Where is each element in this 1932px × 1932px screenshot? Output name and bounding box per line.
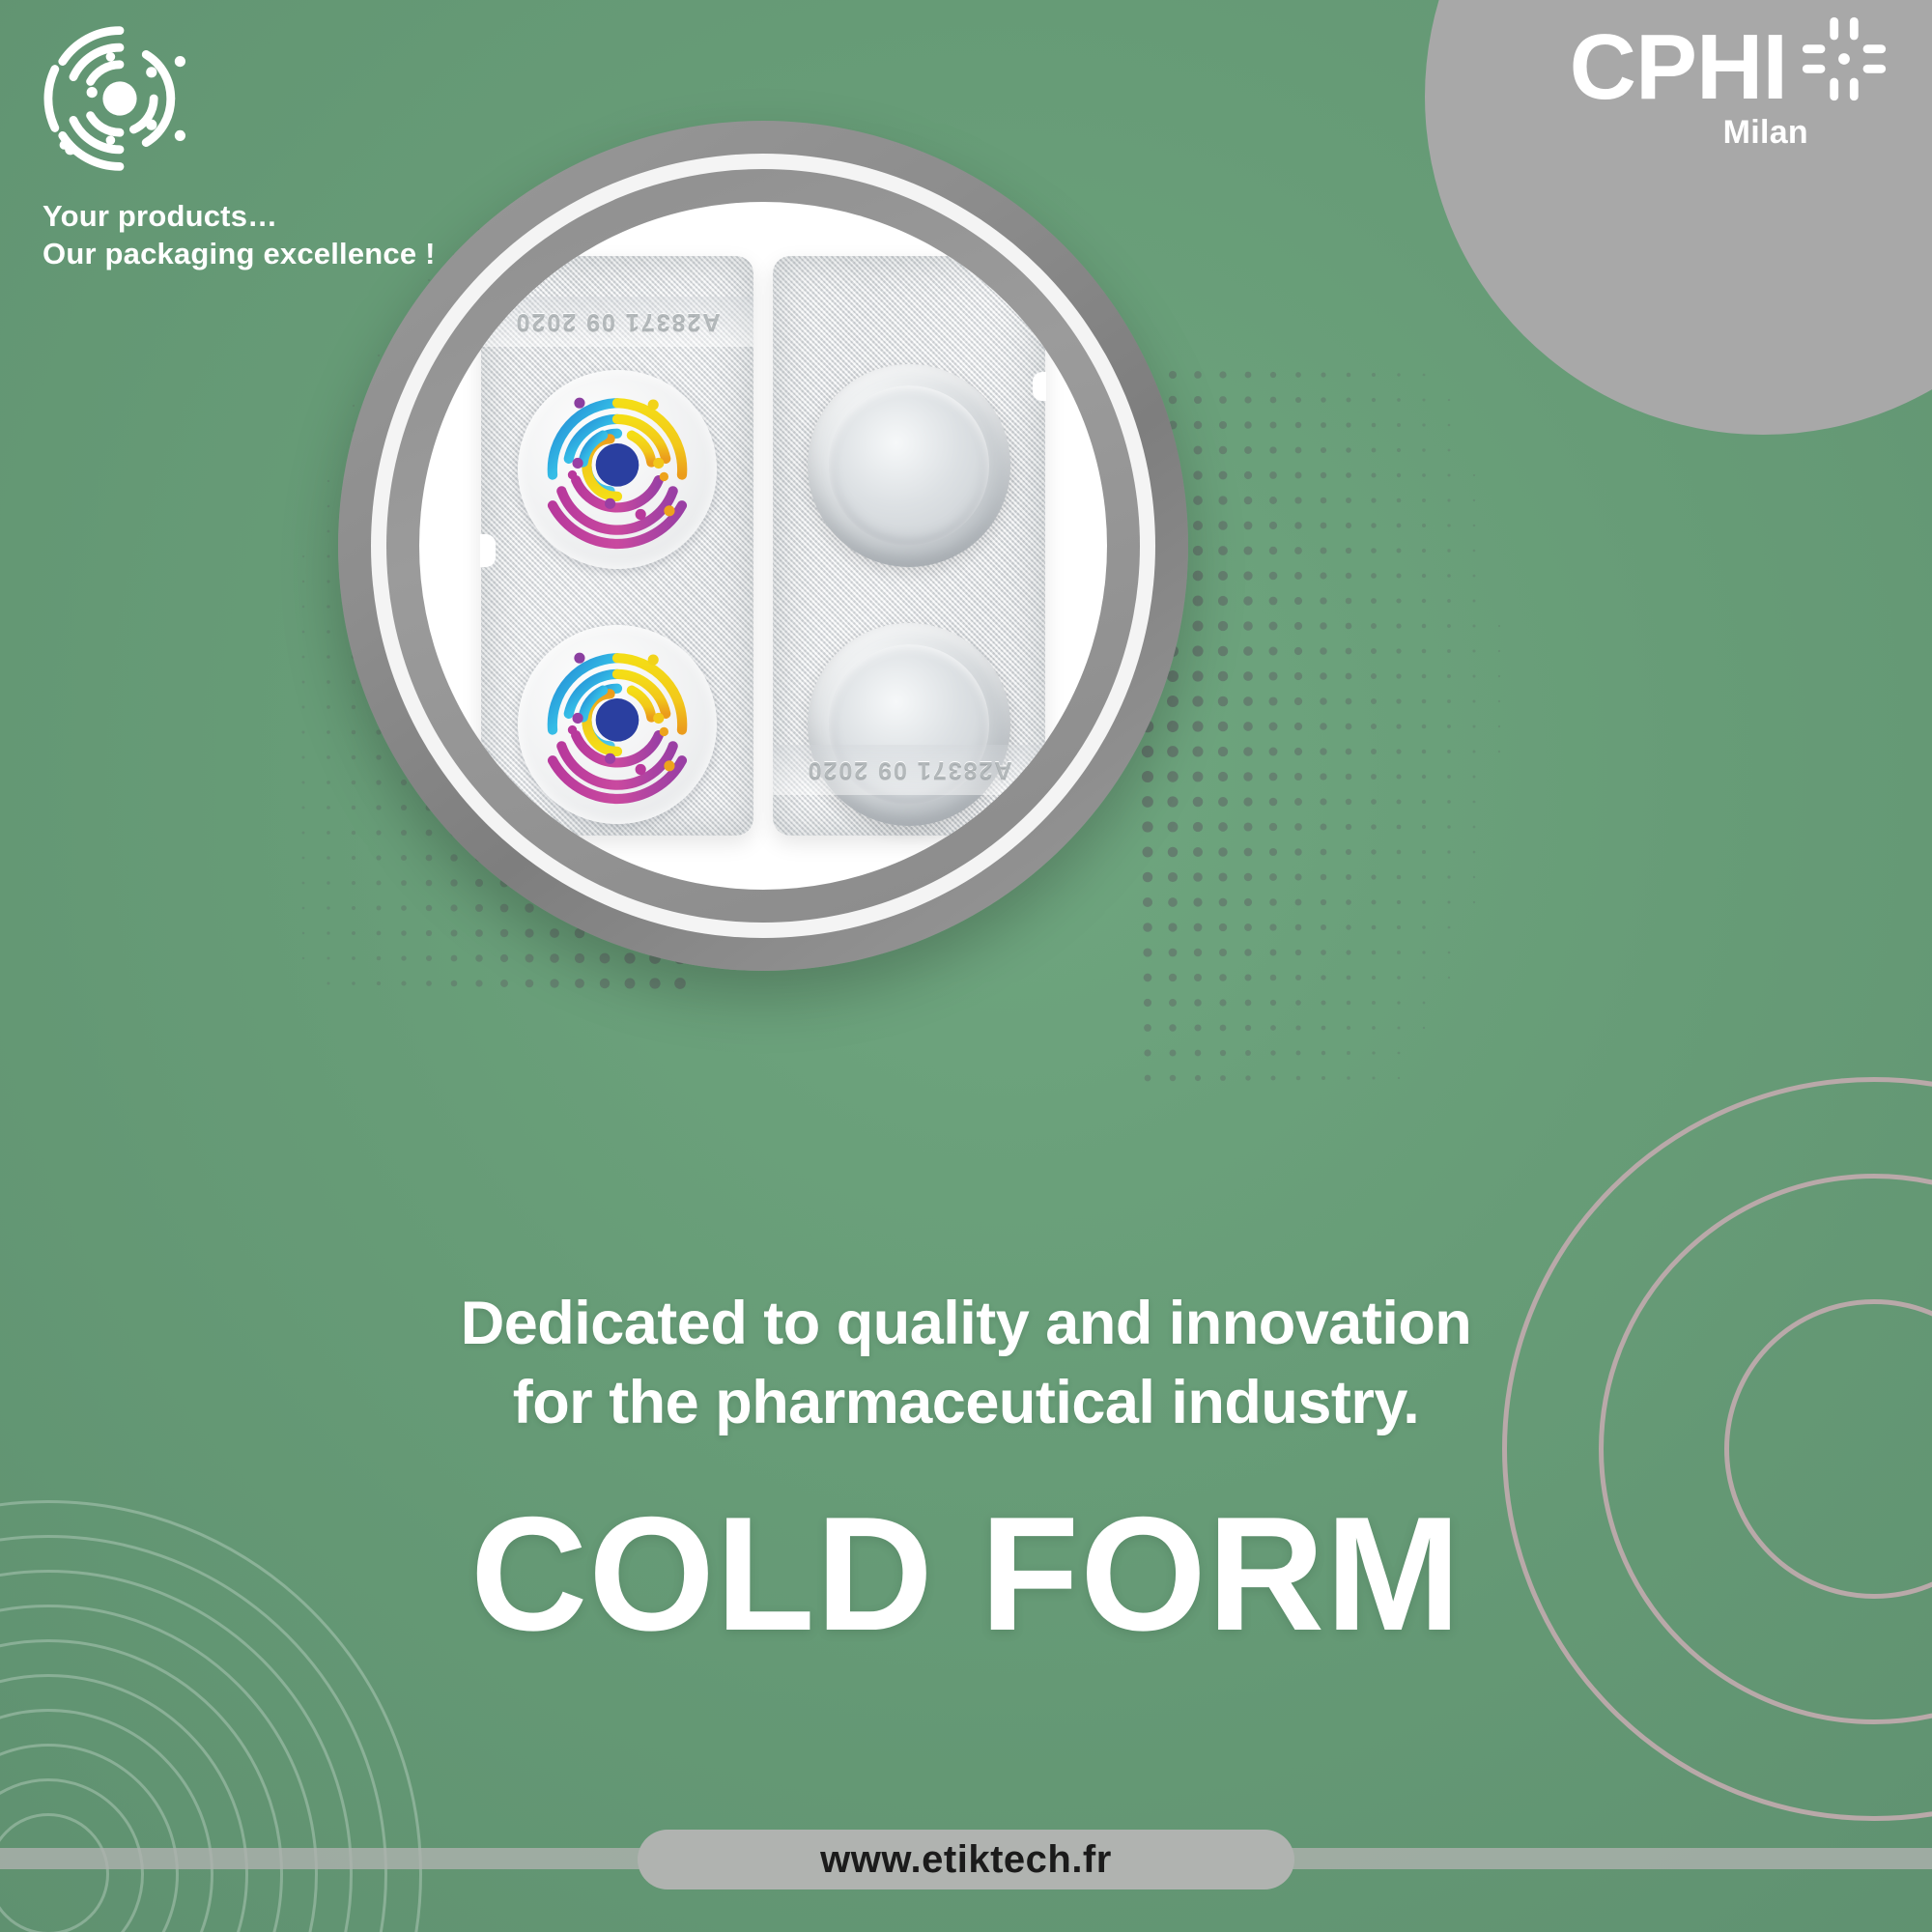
product-photo-circle: A28371 09 2020	[338, 121, 1188, 971]
card-notch	[1033, 372, 1046, 401]
tablet-2	[808, 623, 1010, 826]
blister-pack: A28371 09 2020	[473, 256, 1053, 836]
tablet-1	[808, 364, 1010, 567]
etiktech-color-radial-logo	[527, 380, 707, 559]
emboss-code-bottom: A28371 09 2020	[773, 745, 1045, 795]
cphi-wordmark: CPHI	[1570, 25, 1787, 110]
blister-left-card: A28371 09 2020	[481, 256, 753, 836]
poster-canvas: Your products… Our packaging excellence …	[0, 0, 1932, 1932]
etiktech-color-radial-logo	[527, 635, 707, 814]
website-pill[interactable]: www.etiktech.fr	[638, 1830, 1294, 1889]
blister-right-card: A28371 09 2020	[773, 256, 1045, 836]
concentric-rings-right	[1507, 1082, 1932, 1816]
emboss-code-top: A28371 09 2020	[481, 297, 753, 347]
photo-disc: A28371 09 2020	[419, 202, 1107, 890]
feature-title: COLD FORM	[0, 1492, 1932, 1655]
etiktech-tag-1	[518, 370, 717, 569]
etiktech-tag-2	[518, 625, 717, 824]
headline-line-1: Dedicated to quality and innovation	[145, 1285, 1787, 1364]
cphi-city-label: Milan	[1570, 114, 1891, 152]
cphi-logo: CPHI Milan	[1570, 25, 1891, 152]
sunburst-icon	[1797, 12, 1891, 106]
etiktech-logo-icon	[43, 21, 197, 176]
website-url[interactable]: www.etiktech.fr	[820, 1838, 1112, 1882]
headline-line-2: for the pharmaceutical industry.	[145, 1364, 1787, 1443]
card-notch	[480, 534, 496, 567]
headline-block: Dedicated to quality and innovation for …	[0, 1285, 1932, 1443]
